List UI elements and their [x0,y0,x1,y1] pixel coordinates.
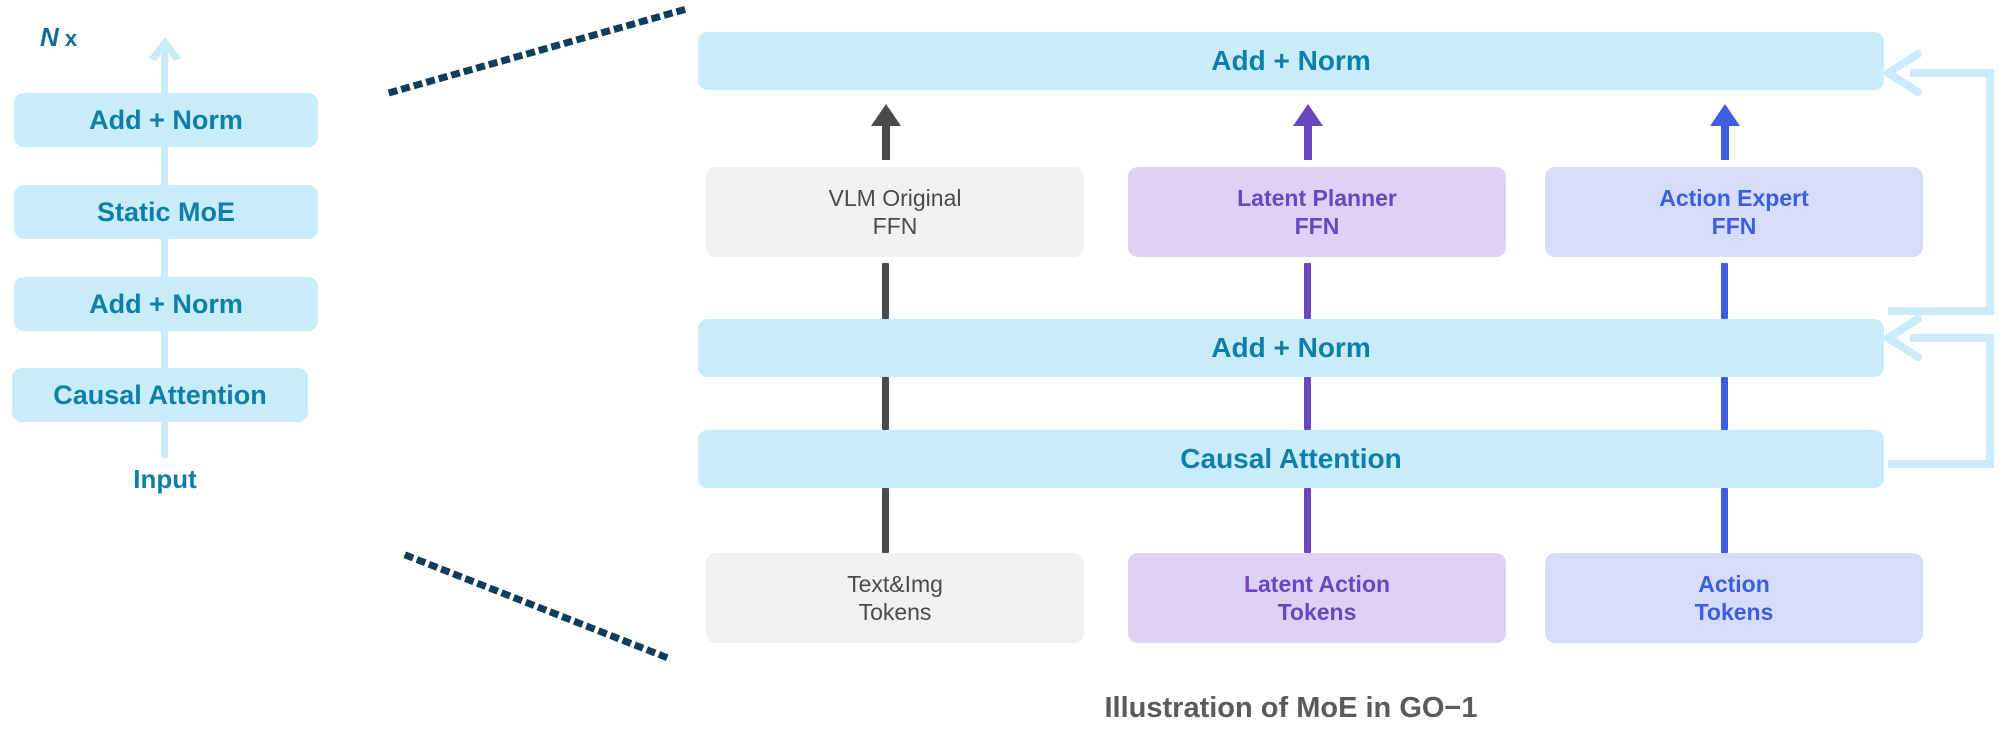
token-label-line2: Tokens [1695,598,1774,626]
token-label-line1: Latent Action [1244,570,1390,598]
left-input-label: Input [0,464,330,495]
left-block-label: Add + Norm [89,104,243,137]
figure-caption: Illustration of MoE in GO−1 [698,692,1884,725]
dotted-connector-upper [392,8,690,92]
ffn-box-action-expert: Action Expert FFN [1545,167,1923,257]
token-box-text: Text&Img Tokens [847,570,943,626]
left-block-add-norm-top: Add + Norm [14,93,318,147]
connector-latent-ffn-to-addnorm [1304,263,1311,319]
right-row-label: Causal Attention [1180,442,1401,476]
token-label-line2: Tokens [1244,598,1390,626]
right-row-add-norm-top: Add + Norm [698,32,1884,90]
connector-vlm-ffn-to-addnorm [882,263,889,319]
connector-action-addnorm-to-attn [1721,377,1728,430]
repeat-count-label: N x [40,22,77,53]
arrow-up-icon-action-expert [1708,104,1742,160]
left-block-label: Add + Norm [89,288,243,321]
arrow-left-icon [1888,319,1918,357]
dotted-connector-lower [408,556,668,658]
right-row-add-norm-mid: Add + Norm [698,319,1884,377]
ffn-label-line2: FFN [829,212,962,240]
token-box-text: Action Tokens [1695,570,1774,626]
arrow-up-icon-latent-planner [1291,104,1325,160]
token-label-line1: Text&Img [847,570,943,598]
left-block-causal-attention: Causal Attention [12,368,308,422]
connector-action-ffn-to-addnorm [1721,263,1728,319]
token-box-action: Action Tokens [1545,553,1923,643]
connector-vlm-addnorm-to-attn [882,377,889,430]
left-flow-line-1 [161,146,168,187]
repeat-count-value: N [40,22,59,52]
ffn-label-line1: Latent Planner [1237,184,1397,212]
left-block-add-norm-bottom: Add + Norm [14,277,318,331]
ffn-label-line2: FFN [1237,212,1397,240]
ffn-label-line1: Action Expert [1659,184,1809,212]
left-flow-line-3 [161,330,168,370]
left-flow-line-2 [161,238,168,279]
ffn-box-latent-planner: Latent Planner FFN [1128,167,1506,257]
ffn-label-line2: FFN [1659,212,1809,240]
ffn-box-text: Latent Planner FFN [1237,184,1397,240]
ffn-box-vlm-original: VLM Original FFN [706,167,1084,257]
ffn-label-line1: VLM Original [829,184,962,212]
right-row-label: Add + Norm [1211,44,1370,78]
figure-canvas: N x Add + Norm Static MoE Add + Norm Cau… [0,0,2014,748]
repeat-count-multiplier: x [59,26,77,51]
connector-latent-tokens-to-attn [1304,488,1311,553]
left-flow-line-top [161,43,168,95]
right-row-label: Add + Norm [1211,331,1370,365]
ffn-box-text: Action Expert FFN [1659,184,1809,240]
ffn-box-text: VLM Original FFN [829,184,962,240]
connector-action-tokens-to-attn [1721,488,1728,553]
arrow-left-icon [1888,54,1918,92]
left-block-label: Causal Attention [53,379,267,412]
token-label-line2: Tokens [847,598,943,626]
connector-latent-addnorm-to-attn [1304,377,1311,430]
right-row-causal-attention: Causal Attention [698,430,1884,488]
token-box-latent-action: Latent Action Tokens [1128,553,1506,643]
left-block-static-moe: Static MoE [14,185,318,239]
arrow-up-icon-vlm [869,104,903,160]
token-box-text-img: Text&Img Tokens [706,553,1084,643]
residual-skip-lower [1880,270,2014,500]
left-block-label: Static MoE [97,196,235,229]
token-label-line1: Action [1695,570,1774,598]
token-box-text: Latent Action Tokens [1244,570,1390,626]
connector-vlm-tokens-to-attn [882,488,889,553]
left-flow-line-bottom [161,422,168,458]
